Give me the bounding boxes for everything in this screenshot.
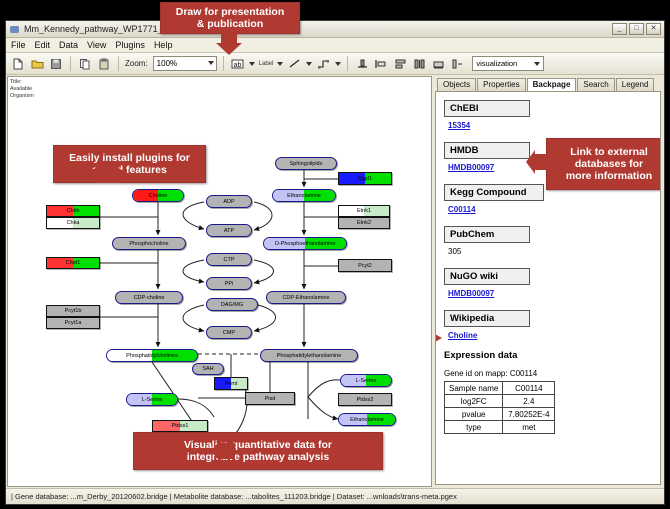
gene-label: Chpt1 xyxy=(66,260,81,266)
expression-row-value: 7.80252E-4 xyxy=(503,408,555,421)
gene-node[interactable]: Ptdss2 xyxy=(338,393,392,406)
gene-node[interactable]: Sgpl1 xyxy=(338,172,392,185)
metabolite-node[interactable]: ADP xyxy=(206,195,252,208)
expression-row-label: pvalue xyxy=(445,408,503,421)
align-left-icon[interactable] xyxy=(373,56,389,72)
backpage-section: NuGO wikiHMDB00097 xyxy=(444,266,652,298)
metabolite-label: L-Serine xyxy=(356,378,377,384)
side-panel: Objects Properties Backpage Search Legen… xyxy=(433,76,663,487)
metabolite-node[interactable]: DAG/MG xyxy=(206,298,258,311)
zoom-label: Zoom: xyxy=(125,59,148,68)
expression-row-label: type xyxy=(445,421,503,434)
gene-label: Ptdss2 xyxy=(357,397,374,403)
backpage-section: WikipediaCholine xyxy=(444,308,652,340)
metabolite-node[interactable]: CTP xyxy=(206,253,252,266)
metabolite-node[interactable]: Ethanolamine xyxy=(338,413,396,426)
backpage-link[interactable]: HMDB00097 xyxy=(448,289,652,298)
metabolite-node[interactable]: Phosphatidylethanolamine xyxy=(260,349,358,362)
text-label-icon[interactable]: ab xyxy=(230,56,246,72)
backpage-section: PubChem305 xyxy=(444,224,652,256)
save-icon[interactable] xyxy=(48,56,64,72)
status-bar: | Gene database: ...m_Derby_20120602.bri… xyxy=(6,488,664,504)
gene-node[interactable]: Pcyt1b xyxy=(46,305,100,317)
metabolite-label: Ethanolamine xyxy=(350,417,384,423)
tab-search[interactable]: Search xyxy=(577,78,614,91)
gene-node[interactable]: Etnk2 xyxy=(338,217,390,229)
table-row: typemet xyxy=(445,421,555,434)
expression-row-value: C00114 xyxy=(503,382,555,395)
expression-row-label: Sample name xyxy=(445,382,503,395)
metabolite-node[interactable]: PPi xyxy=(206,277,252,290)
gene-node[interactable]: Etnk1 xyxy=(338,205,390,217)
table-row: log2FC2.4 xyxy=(445,395,555,408)
chevron-down-icon xyxy=(208,61,214,65)
gene-node[interactable]: Chkb xyxy=(46,205,100,217)
metabolite-node[interactable]: L-Serine xyxy=(340,374,392,387)
backpage-section: ChEBI15354 xyxy=(444,98,652,130)
visualization-value: visualization xyxy=(476,59,517,68)
connector-icon[interactable] xyxy=(315,56,331,72)
metabolite-label: CDP-choline xyxy=(134,295,165,301)
backpage-heading: HMDB xyxy=(444,142,530,159)
new-file-icon[interactable] xyxy=(10,56,26,72)
metabolite-label: L-Serine xyxy=(142,397,163,403)
backpage-value: 305 xyxy=(448,247,652,256)
metabolite-label: O-Phosphoethanolamine xyxy=(275,241,336,247)
visualization-combobox[interactable]: visualization xyxy=(472,56,544,71)
expression-row-value: met xyxy=(503,421,555,434)
backpage-heading: PubChem xyxy=(444,226,530,243)
gene-label: Pisd xyxy=(265,396,276,402)
backpage-content: ChEBI15354HMDBHMDB00097Kegg CompoundC001… xyxy=(435,91,661,485)
toolbar-separator-3 xyxy=(223,56,224,71)
zoom-combobox[interactable]: 100% xyxy=(153,56,217,71)
metabolite-label: SAH xyxy=(202,366,213,372)
line-dropdown-icon[interactable] xyxy=(305,57,312,71)
gene-node[interactable]: Pemt xyxy=(214,377,248,390)
app-icon xyxy=(9,24,20,35)
gene-label: Pcyt1b xyxy=(65,308,82,314)
metabolite-node[interactable]: Phosphocholine xyxy=(112,237,186,250)
metabolite-node[interactable]: CMP xyxy=(206,326,252,339)
distribute-icon[interactable] xyxy=(392,56,408,72)
menu-item-edit[interactable]: Edit xyxy=(35,40,51,50)
side-panel-tabs: Objects Properties Backpage Search Legen… xyxy=(433,76,663,91)
menu-item-help[interactable]: Help xyxy=(154,40,173,50)
line-icon[interactable] xyxy=(286,56,302,72)
metabolite-node[interactable]: Sphingolipids xyxy=(275,157,337,170)
backpage-link[interactable]: 15354 xyxy=(448,121,652,130)
gene-label: Ptdss1 xyxy=(172,423,189,429)
metabolite-label: Sphingolipids xyxy=(290,161,323,167)
metabolite-label: Phosphatidylcholines xyxy=(126,353,178,359)
connector-dropdown-icon[interactable] xyxy=(334,57,341,71)
backpage-link[interactable]: C00114 xyxy=(448,205,652,214)
metabolite-label: DAG/MG xyxy=(221,302,243,308)
link-callout-arrow xyxy=(526,150,548,174)
window-controls: _ □ ✕ xyxy=(612,23,661,35)
metabolite-node[interactable]: CDP-choline xyxy=(115,291,183,304)
toolbar-separator-4 xyxy=(347,56,348,71)
gene-label: Chkb xyxy=(67,208,80,214)
gene-label: Chka xyxy=(67,220,80,226)
tab-objects[interactable]: Objects xyxy=(437,78,476,91)
expression-row-label: log2FC xyxy=(445,395,503,408)
copy-icon[interactable] xyxy=(77,56,93,72)
tab-properties[interactable]: Properties xyxy=(477,78,525,91)
backpage-heading: Kegg Compound xyxy=(444,184,544,201)
pathvisio-window: Mm_Kennedy_pathway_WP1771_45176.gpml _ □… xyxy=(5,20,665,505)
gene-label: Pcyt2 xyxy=(358,263,372,269)
menu-item-view[interactable]: View xyxy=(87,40,106,50)
gene-node[interactable]: Chpt1 xyxy=(46,257,100,269)
align-top-icon[interactable] xyxy=(354,56,370,72)
backpage-sections: ChEBI15354HMDBHMDB00097Kegg CompoundC001… xyxy=(444,98,652,340)
expression-callout-arrow xyxy=(435,330,442,346)
paste-icon[interactable] xyxy=(96,56,112,72)
metabolite-label: PPi xyxy=(225,281,234,287)
metabolite-label: Phosphocholine xyxy=(129,241,168,247)
draw-callout-arrow xyxy=(216,33,242,55)
gene-label: Sgpl1 xyxy=(358,176,372,182)
gene-id-line: Gene id on mapp: C00114 xyxy=(444,369,652,378)
metabolite-label: Choline xyxy=(149,193,168,199)
toolbar-separator-1 xyxy=(70,56,71,71)
expression-data-title: Expression data xyxy=(444,350,652,361)
gene-node[interactable]: Pcyt2 xyxy=(338,259,392,272)
visualize-callout-left-arrow xyxy=(211,439,235,463)
visualize-callout: Visualize quantitative data for integrat… xyxy=(133,432,383,470)
expression-table: Sample nameC00114log2FC2.4pvalue7.80252E… xyxy=(444,381,555,434)
metabolite-label: CDP-Ethanolamine xyxy=(282,295,329,301)
size-icon[interactable] xyxy=(411,56,427,72)
draw-callout: Draw for presentation & publication xyxy=(160,2,300,34)
minimize-button[interactable]: _ xyxy=(612,23,627,35)
menu-item-data[interactable]: Data xyxy=(59,40,78,50)
metabolite-node[interactable]: Phosphatidylcholines xyxy=(106,349,198,362)
gene-node[interactable]: Pcyt1a xyxy=(46,317,100,329)
metabolite-label: CTP xyxy=(224,257,235,263)
pathway-canvas[interactable]: Title: Available Organism xyxy=(7,76,432,487)
order-icon[interactable] xyxy=(449,56,465,72)
gene-label: Pcyt1a xyxy=(65,320,82,326)
zoom-value: 100% xyxy=(157,59,177,68)
table-row: Sample nameC00114 xyxy=(445,382,555,395)
gene-label: Pemt xyxy=(225,381,238,387)
gene-node[interactable]: Chka xyxy=(46,217,100,229)
expression-row-value: 2.4 xyxy=(503,395,555,408)
metabolite-node[interactable]: CDP-Ethanolamine xyxy=(266,291,346,304)
group-icon[interactable] xyxy=(430,56,446,72)
gene-node[interactable]: Pisd xyxy=(245,392,295,405)
metabolite-label: ATP xyxy=(224,228,234,234)
metabolite-node[interactable]: L-Serine xyxy=(126,393,178,406)
status-text: | Gene database: ...m_Derby_20120602.bri… xyxy=(11,492,457,501)
toolbar-separator-2 xyxy=(118,56,119,71)
plugins-callout: Easily install plugins for added feature… xyxy=(53,145,206,183)
label-menu-chevron-icon[interactable] xyxy=(276,57,283,71)
table-row: pvalue7.80252E-4 xyxy=(445,408,555,421)
backpage-link[interactable]: Choline xyxy=(448,331,652,340)
link-callout: Link to external databases for more info… xyxy=(546,138,661,190)
label-dropdown-icon[interactable] xyxy=(249,57,256,71)
gene-label: Etnk2 xyxy=(357,220,371,226)
label-dropdown-text: Label xyxy=(259,61,274,67)
tab-backpage[interactable]: Backpage xyxy=(527,78,577,91)
metabolite-node[interactable]: Choline xyxy=(132,189,184,202)
backpage-heading: ChEBI xyxy=(444,100,530,117)
tab-legend[interactable]: Legend xyxy=(616,78,655,91)
gene-label: Etnk1 xyxy=(357,208,371,214)
metabolite-label: ADP xyxy=(223,199,234,205)
metabolite-label: Ethanolamine xyxy=(287,193,321,199)
svg-text:ab: ab xyxy=(234,62,242,69)
metabolite-node[interactable]: Ethanolamine xyxy=(272,189,336,202)
work-area: Title: Available Organism xyxy=(6,75,664,488)
open-folder-icon[interactable] xyxy=(29,56,45,72)
menu-bar: File Edit Data View Plugins Help xyxy=(6,38,664,53)
menu-item-file[interactable]: File xyxy=(11,40,26,50)
metabolite-node[interactable]: SAH xyxy=(192,363,224,375)
backpage-heading: NuGO wiki xyxy=(444,268,530,285)
backpage-heading: Wikipedia xyxy=(444,310,530,327)
metabolite-label: Phosphatidylethanolamine xyxy=(277,353,342,359)
gene-node[interactable]: Ptdss1 xyxy=(152,420,208,432)
close-button[interactable]: ✕ xyxy=(646,23,661,35)
maximize-button[interactable]: □ xyxy=(629,23,644,35)
title-bar: Mm_Kennedy_pathway_WP1771_45176.gpml _ □… xyxy=(6,21,664,38)
menu-item-plugins[interactable]: Plugins xyxy=(115,40,145,50)
visualization-chevron-down-icon xyxy=(534,62,540,66)
metabolite-node[interactable]: ATP xyxy=(206,224,252,237)
metabolite-label: CMP xyxy=(223,330,235,336)
window-title: Mm_Kennedy_pathway_WP1771_45176.gpml xyxy=(24,24,612,34)
metabolite-node[interactable]: O-Phosphoethanolamine xyxy=(263,237,347,250)
toolbar: Zoom: 100% ab Label xyxy=(6,53,664,75)
